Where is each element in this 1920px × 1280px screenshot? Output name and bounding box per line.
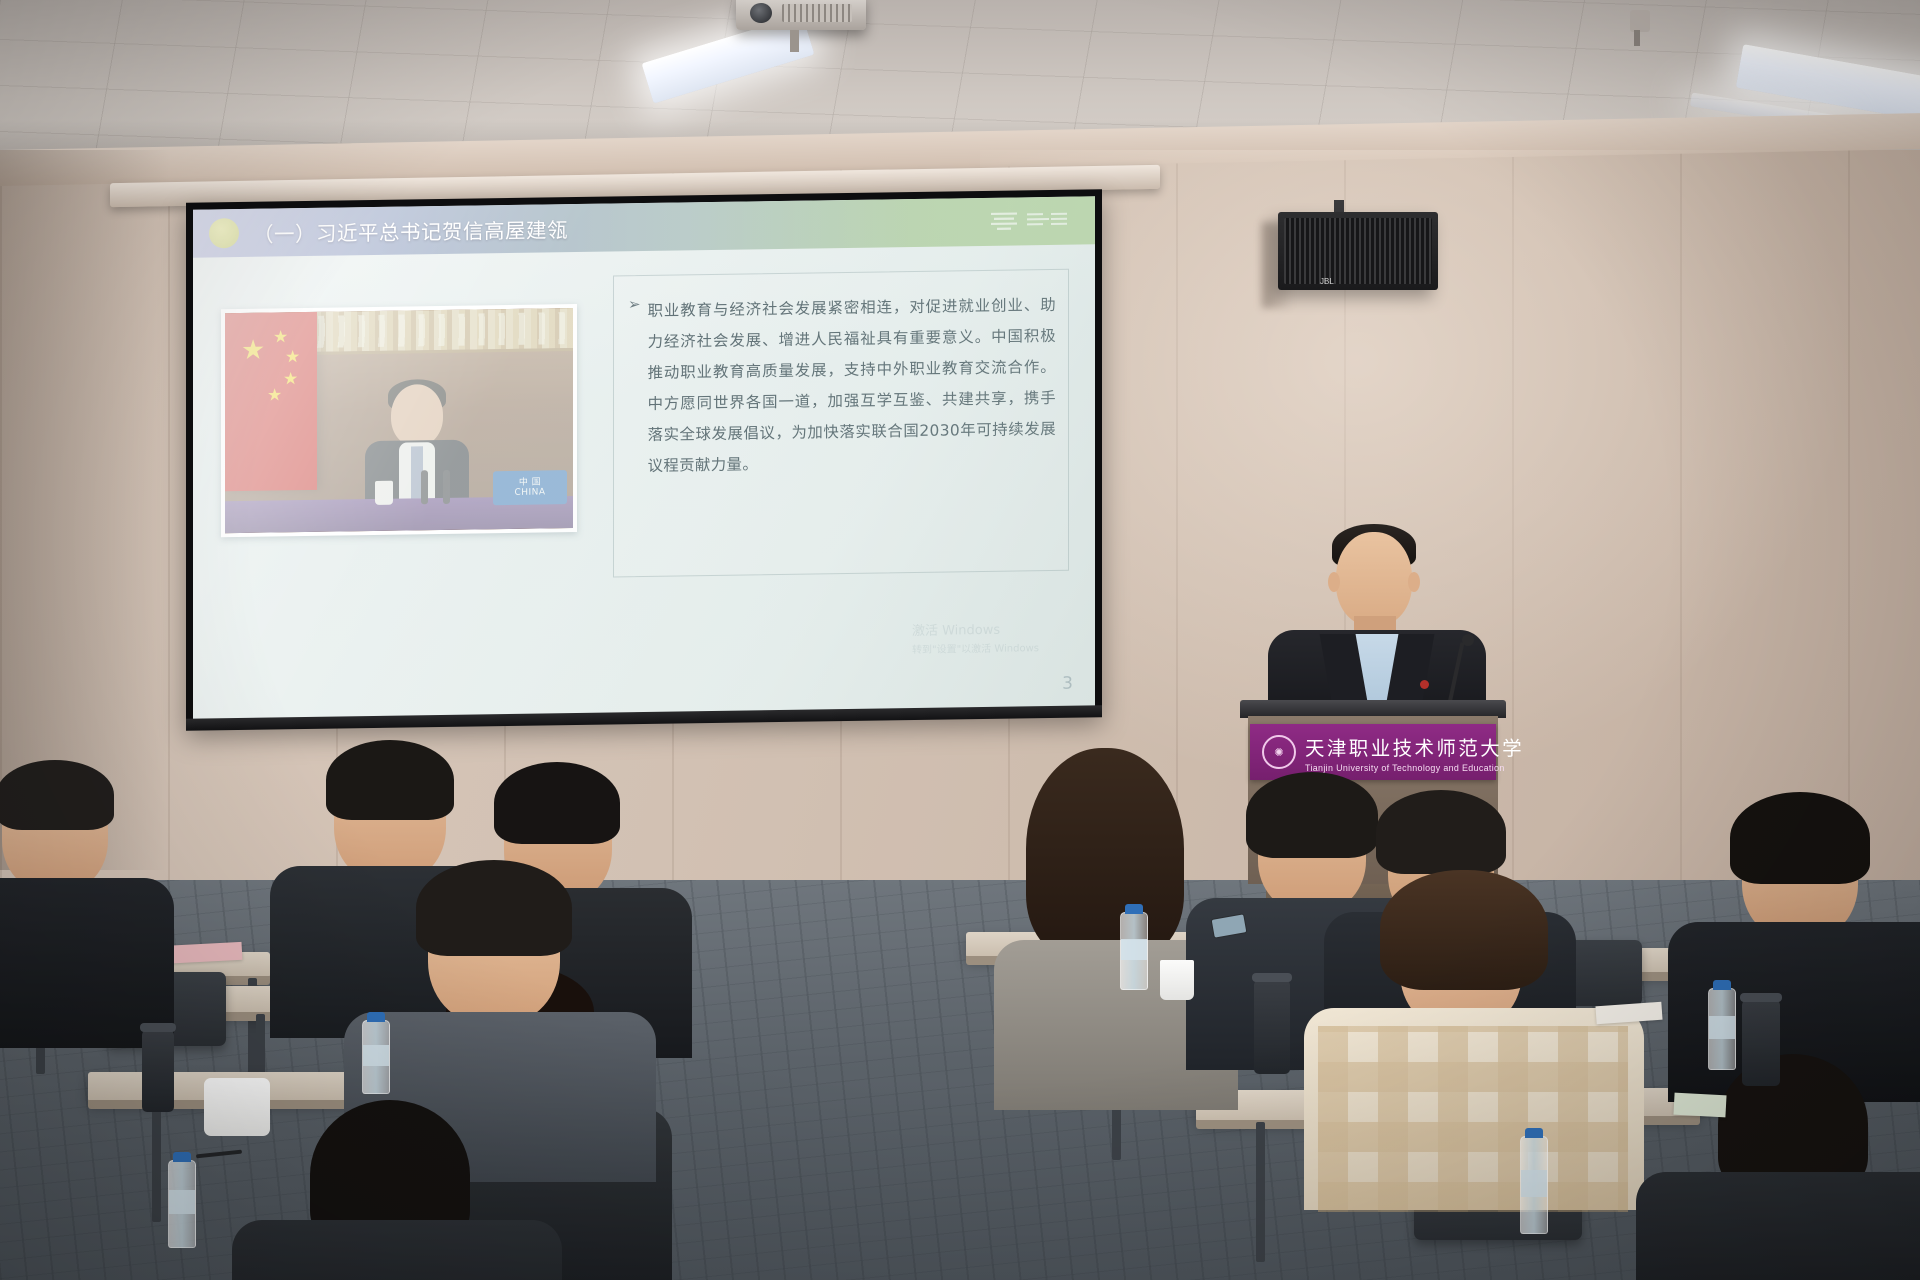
audience-hair bbox=[0, 760, 114, 830]
tissue-roll bbox=[204, 1078, 270, 1136]
podium-banner-en: Tianjin University of Technology and Edu… bbox=[1305, 763, 1524, 773]
presenter-ear bbox=[1408, 572, 1420, 592]
audience-member bbox=[1328, 880, 1628, 1210]
lecture-hall-photo: JBL （一）习近平总书记贺信高屋建瓴 bbox=[0, 0, 1920, 1280]
water-bottle bbox=[168, 1160, 196, 1248]
audience-hair bbox=[1380, 870, 1548, 990]
audience-member bbox=[1652, 1054, 1920, 1280]
audience-hair bbox=[1376, 790, 1506, 874]
podium-banner: ✺ 天津职业技术师范大学 Tianjin University of Techn… bbox=[1250, 724, 1496, 780]
thermos-tumbler bbox=[1254, 980, 1290, 1074]
slide-bullet: ➢ 职业教育与经济社会发展紧密相连，对促进就业创业、助力经济社会发展、增进人民福… bbox=[628, 290, 1056, 482]
wall-mounted-loudspeaker: JBL bbox=[1278, 212, 1438, 290]
slide-page-number: 3 bbox=[1062, 674, 1073, 694]
presenter bbox=[1262, 524, 1492, 720]
presenter-lapel-pin bbox=[1420, 680, 1429, 689]
audience-hair bbox=[416, 860, 572, 956]
thermos-tumbler bbox=[1742, 1000, 1780, 1086]
water-bottle bbox=[1120, 912, 1148, 990]
paper-sheet bbox=[1673, 1093, 1726, 1118]
ceiling-projector bbox=[736, 0, 866, 30]
checkered-vest-pattern bbox=[1318, 1026, 1628, 1212]
projector-lens-icon bbox=[750, 3, 772, 23]
podium-microphone-icon bbox=[1462, 634, 1474, 646]
water-bottle bbox=[1708, 988, 1736, 1070]
projection-screen: （一）习近平总书记贺信高屋建瓴 bbox=[186, 189, 1102, 728]
audience-hair bbox=[326, 740, 454, 820]
university-logo-icon bbox=[987, 207, 1073, 236]
watermark-line-1: 激活 Windows bbox=[912, 618, 1039, 639]
ceiling-sprinkler-base bbox=[1630, 10, 1650, 32]
sprinkler-icon bbox=[1634, 30, 1640, 46]
paper-cup bbox=[1160, 960, 1194, 1000]
photo-projection-washout bbox=[225, 308, 573, 533]
presenter-ear bbox=[1328, 572, 1340, 592]
audience-torso bbox=[232, 1220, 562, 1280]
slide-title: （一）习近平总书记贺信高屋建瓴 bbox=[253, 213, 568, 248]
water-bottle bbox=[1520, 1136, 1548, 1234]
university-seal-icon: ✺ bbox=[1262, 735, 1296, 769]
slide-text-card: ➢ 职业教育与经济社会发展紧密相连，对促进就业创业、助力经济社会发展、增进人民福… bbox=[613, 269, 1069, 578]
slide-bullet-text: 职业教育与经济社会发展紧密相连，对促进就业创业、助力经济社会发展、增进人民福祉具… bbox=[648, 290, 1056, 482]
loudspeaker-grille bbox=[1284, 218, 1432, 284]
desk-leg bbox=[1256, 1122, 1265, 1262]
audience-member bbox=[250, 1100, 550, 1280]
loudspeaker-badge: JBL bbox=[1320, 277, 1334, 286]
watermark-line-2: 转到"设置"以激活 Windows bbox=[912, 639, 1039, 656]
water-bottle bbox=[362, 1020, 390, 1094]
audience-member bbox=[0, 770, 152, 1030]
wall-left-shadow bbox=[0, 150, 170, 870]
audience-hair bbox=[494, 762, 620, 844]
audience-hair bbox=[1026, 748, 1184, 958]
audience-torso bbox=[1636, 1172, 1920, 1280]
slide-header-badge-icon bbox=[209, 218, 239, 248]
projector-vent bbox=[782, 4, 852, 22]
audience-hair bbox=[1730, 792, 1870, 884]
podium-banner-cn: 天津职业技术师范大学 bbox=[1305, 732, 1524, 761]
projector-mount-arm bbox=[790, 30, 799, 52]
windows-activation-watermark: 激活 Windows 转到"设置"以激活 Windows bbox=[912, 618, 1039, 656]
thermos-tumbler bbox=[142, 1030, 174, 1112]
slide-body: ★ ★ ★ ★ ★ bbox=[193, 244, 1095, 720]
bullet-arrow-icon: ➢ bbox=[628, 296, 641, 482]
slide-photo: ★ ★ ★ ★ ★ bbox=[221, 304, 577, 537]
desk-leg bbox=[152, 1102, 161, 1222]
presenter-head bbox=[1336, 532, 1412, 626]
